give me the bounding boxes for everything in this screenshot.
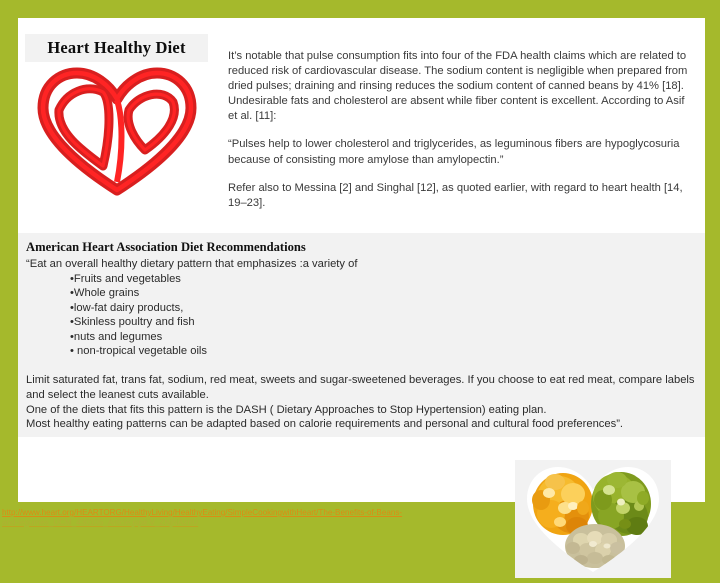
source-url-line1: http://www.heart.org/HEARTORG/HealthyLiv… [2, 508, 402, 517]
aha-closing-line-2: One of the diets that fits this pattern … [26, 403, 704, 418]
aha-closing-text: Limit saturated fat, trans fat, sodium, … [26, 373, 704, 432]
aha-closing-line-3: Most healthy eating patterns can be adap… [26, 417, 704, 432]
aha-intro-line: “Eat an overall healthy dietary pattern … [26, 257, 357, 272]
intro-quote: “Pulses help to lower cholesterol and tr… [228, 137, 694, 167]
intro-text-block: It’s notable that pulse consumption fits… [228, 49, 694, 211]
aha-bullet-list: •Fruits and vegetables •Whole grains •lo… [70, 272, 207, 358]
list-item: •Fruits and vegetables [70, 272, 207, 286]
page-title: Heart Healthy Diet [47, 38, 185, 58]
source-url-link[interactable]: http://www.heart.org/HEARTORG/HealthyLiv… [2, 508, 718, 527]
page-title-box: Heart Healthy Diet [25, 34, 208, 62]
source-url-line2: and-legumes_UCM_430105_Article.jsp#.V_ZN… [2, 518, 718, 528]
aha-recommendations-panel: American Heart Association Diet Recommen… [18, 233, 705, 437]
slide-canvas: Heart Healthy Diet It’s notable that pul… [0, 0, 720, 540]
heart-center-stem [117, 100, 122, 182]
heart-logo [37, 66, 197, 196]
list-item: • non-tropical vegetable oils [70, 344, 207, 358]
list-item: •nuts and legumes [70, 330, 207, 344]
intro-paragraph-1: It’s notable that pulse consumption fits… [228, 49, 694, 124]
list-item: •Whole grains [70, 286, 207, 300]
intro-paragraph-3: Refer also to Messina [2] and Singhal [1… [228, 181, 694, 211]
aha-heading: American Heart Association Diet Recommen… [26, 240, 306, 255]
list-item: •low-fat dairy products, [70, 301, 207, 315]
list-item: •Skinless poultry and fish [70, 315, 207, 329]
aha-closing-line-1: Limit saturated fat, trans fat, sodium, … [26, 373, 704, 403]
